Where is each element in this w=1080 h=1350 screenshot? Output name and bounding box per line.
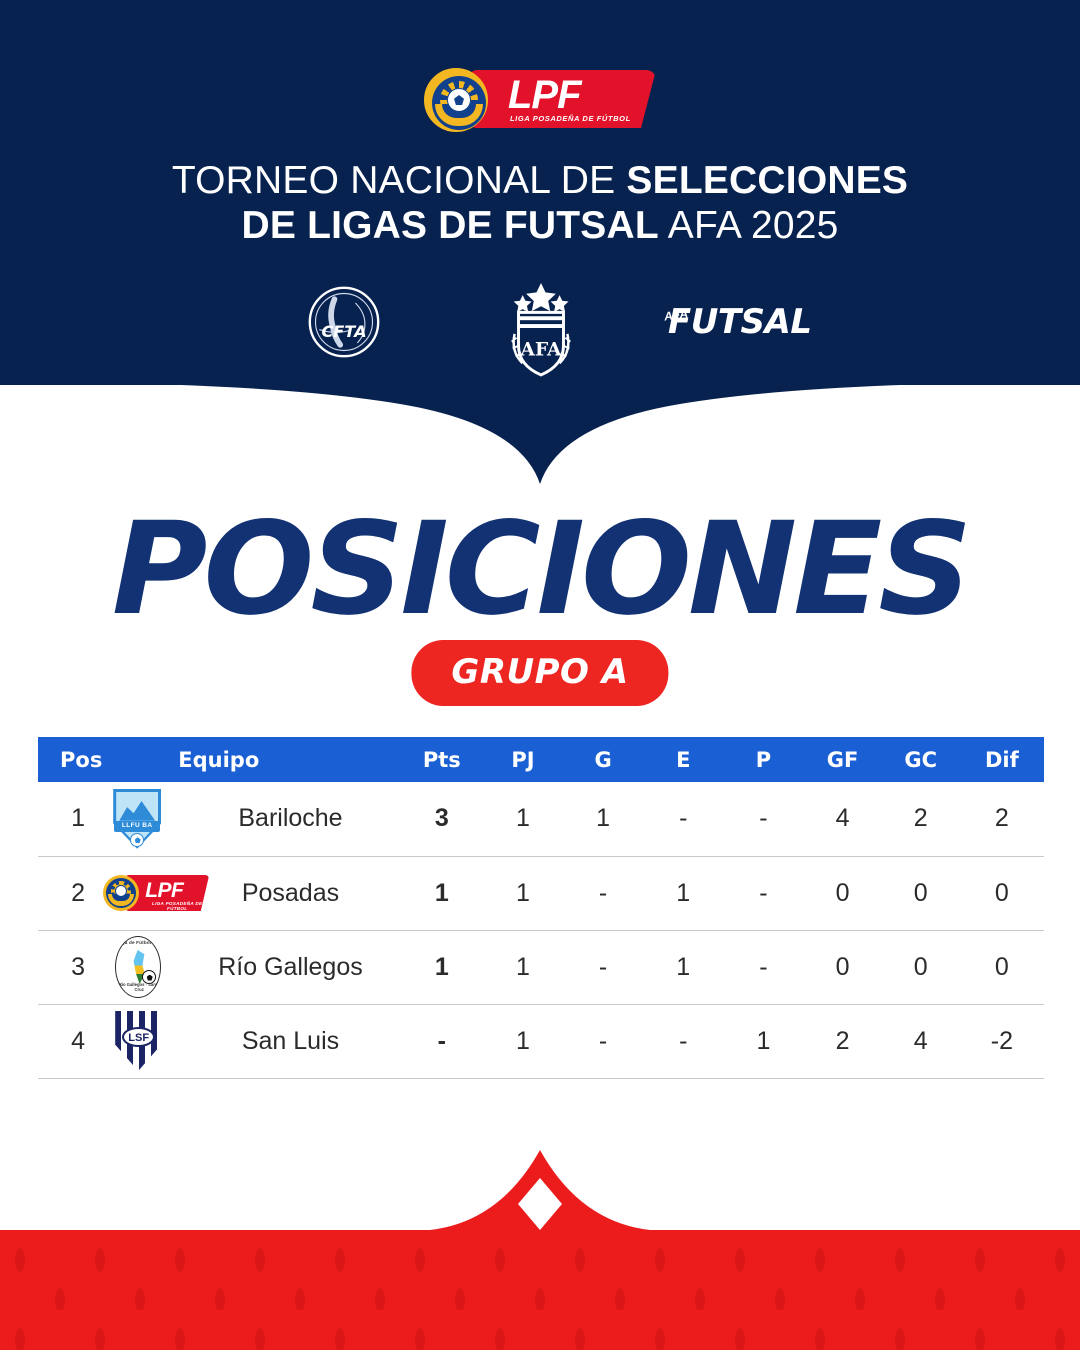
title-line-1-bold: SELECCIONES [626,159,908,202]
cell-gf: 0 [803,856,881,930]
cell-gf: 2 [803,1004,881,1078]
lpf-logo: LPF LIGA POSADEÑA DE FÚTBOL [424,68,656,130]
column-header-pos: Pos [38,737,96,782]
cell-g: - [563,930,643,1004]
cell-g: - [563,1004,643,1078]
cell-gf: 4 [803,782,881,856]
standings-poster: LPF LIGA POSADEÑA DE FÚTBOL TORNEO NACIO… [0,0,1080,1350]
lpf-mini-crest [103,875,139,911]
title-line-2-light: AFA 2025 [659,204,839,247]
table-body: 1 LLFU BA Bariloche 3 1 1 - [38,782,1044,1078]
crest-top-text: Liga de Fútbol Sur [116,940,161,945]
lpf-logo-subtitle: LIGA POSADEÑA DE FÚTBOL [510,114,650,123]
row-position: 4 [38,1004,96,1078]
table-row: 1 LLFU BA Bariloche 3 1 1 - [38,782,1044,856]
table-header: Pos Equipo Pts PJ G E P GF GC Dif [38,737,1044,782]
cell-dif: 0 [960,856,1044,930]
table-row: 2 LPF LIGA POSADEÑA DE FÚTBOL [38,856,1044,930]
afa-futsal-icon: AFA FUTSAL [668,302,816,346]
column-header-p: P [723,737,803,782]
cell-e: - [643,1004,723,1078]
afa-icon: AFA [497,278,585,378]
team-crest-cell: LSF [96,1004,178,1078]
column-header-g: G [563,737,643,782]
team-crest-cell: LPF LIGA POSADEÑA DE FÚTBOL [96,856,178,930]
crest-oval-text: LSF [124,1032,153,1044]
title-line-2-bold: DE LIGAS DE FUTSAL [241,204,658,247]
table-row: 3 Liga de Fútbol Sur Río Gallegos · Sant… [38,930,1044,1004]
row-position: 3 [38,930,96,1004]
standings-table-wrapper: Pos Equipo Pts PJ G E P GF GC Dif 1 [38,737,1044,1079]
cell-gf: 0 [803,930,881,1004]
cell-p: - [723,782,803,856]
soccer-ball-icon [447,88,471,112]
cell-e: 1 [643,930,723,1004]
rio-gallegos-crest-icon: Liga de Fútbol Sur Río Gallegos · Santa … [101,935,173,999]
cell-p: - [723,856,803,930]
cell-dif: -2 [960,1004,1044,1078]
team-crest-cell: LLFU BA [96,782,178,856]
footer-pattern [0,1230,1080,1350]
cell-g: - [563,856,643,930]
cell-pj: 1 [483,856,563,930]
svg-text:CFTA: CFTA [321,322,366,341]
cell-p: - [723,930,803,1004]
section-heading: POSICIONES [0,505,1080,635]
lpf-mini-text: LPF [145,879,183,903]
column-header-dif: Dif [960,737,1044,782]
cell-g: 1 [563,782,643,856]
column-header-gc: GC [882,737,960,782]
cell-pts: 1 [401,856,483,930]
column-header-equipo: Equipo [178,737,400,782]
soccer-ball-icon [130,833,144,847]
row-position: 2 [38,856,96,930]
cell-e: 1 [643,856,723,930]
team-name: Posadas [178,856,400,930]
cell-pj: 1 [483,782,563,856]
standings-table: Pos Equipo Pts PJ G E P GF GC Dif 1 [38,737,1044,1079]
page-title: TORNEO NACIONAL DE SELECCIONES DE LIGAS … [0,158,1080,248]
footer-band [0,1230,1080,1350]
cell-pts: 3 [401,782,483,856]
column-header-pj: PJ [483,737,563,782]
row-position: 1 [38,782,96,856]
posadas-crest-icon: LPF LIGA POSADEÑA DE FÚTBOL [101,861,173,925]
title-line-2: DE LIGAS DE FUTSAL AFA 2025 [0,203,1080,248]
cell-dif: 2 [960,782,1044,856]
cell-pts: - [401,1004,483,1078]
title-line-1: TORNEO NACIONAL DE SELECCIONES [0,158,1080,203]
team-name: Bariloche [178,782,400,856]
title-line-1-light: TORNEO NACIONAL DE [172,159,627,202]
san-luis-crest-icon: LSF [101,1009,173,1073]
crest-oval: LSF [122,1027,155,1047]
crest-bottom-text: Río Gallegos · Santa Cruz [116,982,161,992]
table-row: 4 LSF San Luis - 1 - - 1 2 4 -2 [38,1004,1044,1078]
crest-circle: Liga de Fútbol Sur Río Gallegos · Santa … [115,936,161,998]
lpf-mini-subtitle: LIGA POSADEÑA DE FÚTBOL [145,901,209,911]
column-header-e: E [643,737,723,782]
cell-e: - [643,782,723,856]
cell-pj: 1 [483,930,563,1004]
cell-p: 1 [723,1004,803,1078]
crest-band: LLFU BA [114,821,160,832]
column-header-crest [96,737,178,782]
org-badges-row: CFTA AFA AFA FUTSAL [0,278,1080,374]
table-header-row: Pos Equipo Pts PJ G E P GF GC Dif [38,737,1044,782]
cell-gc: 0 [882,856,960,930]
bariloche-crest-icon: LLFU BA [101,787,173,851]
team-name: Río Gallegos [178,930,400,1004]
cell-pj: 1 [483,1004,563,1078]
header-chevron-shape [0,380,1080,485]
column-header-gf: GF [803,737,881,782]
column-header-pts: Pts [401,737,483,782]
cell-gc: 4 [882,1004,960,1078]
team-name: San Luis [178,1004,400,1078]
afa-futsal-label: FUTSAL [668,302,812,342]
cell-pts: 1 [401,930,483,1004]
lpf-crest-icon [424,68,488,132]
lpf-mini-logo: LPF LIGA POSADEÑA DE FÚTBOL [103,875,209,911]
team-crest-cell: Liga de Fútbol Sur Río Gallegos · Santa … [96,930,178,1004]
poster-header: LPF LIGA POSADEÑA DE FÚTBOL TORNEO NACIO… [0,0,1080,385]
cfta-icon: CFTA [306,284,382,360]
cell-gc: 0 [882,930,960,1004]
svg-text:AFA: AFA [520,339,562,360]
footer-peak-shape [0,1150,1080,1230]
lpf-logo-text: LPF [508,74,638,116]
group-badge: GRUPO A [411,640,668,706]
cell-dif: 0 [960,930,1044,1004]
cell-gc: 2 [882,782,960,856]
crest-band-text: LLFU BA [114,822,160,829]
